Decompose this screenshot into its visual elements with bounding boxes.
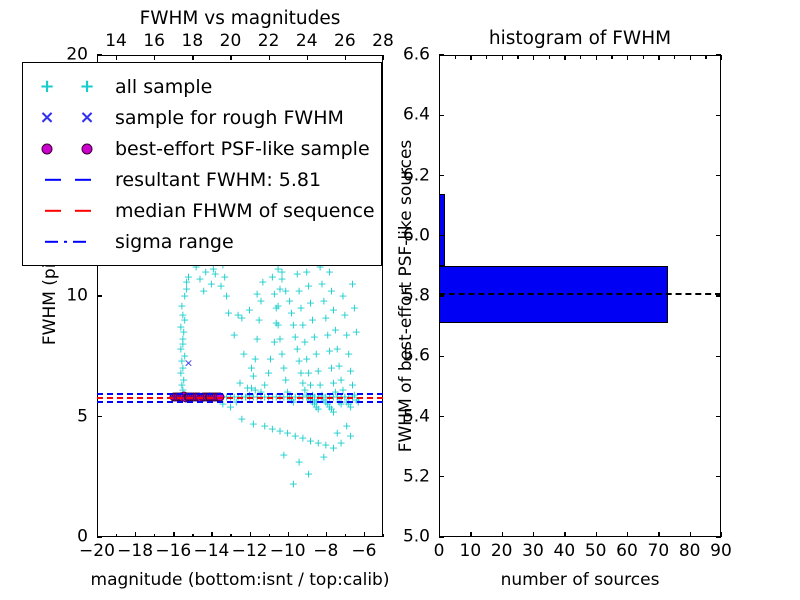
legend-item: sigma range — [23, 226, 381, 257]
scatter-point-all: + — [253, 334, 262, 345]
scatter-point-all: + — [285, 295, 294, 306]
scatter-point-all: + — [277, 274, 286, 285]
legend-item-label: sample for rough FWHM — [115, 107, 344, 129]
scatter-point-all: + — [302, 353, 311, 364]
axis-tick — [517, 55, 518, 59]
axis-tick — [721, 532, 722, 537]
axis-tick-label: 10 — [460, 543, 482, 560]
cross-icon: × — [79, 109, 94, 127]
axis-tick-label: 80 — [679, 543, 701, 560]
axis-tick — [192, 534, 193, 538]
axis-tick-label: 6.6 — [403, 47, 430, 64]
axis-tick — [596, 532, 597, 537]
axis-tick — [716, 295, 721, 296]
scatter-point-all: + — [270, 288, 279, 299]
axis-tick — [439, 115, 444, 116]
legend-item: median FHWM of sequence — [23, 195, 381, 226]
plot-legend: ++all sample××sample for rough FWHMbest-… — [22, 62, 382, 266]
legend-item-label: resultant FWHM: 5.81 — [115, 169, 321, 191]
scatter-point-all: + — [340, 310, 349, 321]
axis-tick-label: 5.4 — [403, 408, 430, 425]
scatter-point-all: + — [308, 315, 317, 326]
axis-tick — [439, 536, 444, 537]
scatter-point-all: + — [289, 478, 298, 489]
scatter-point-all: + — [298, 319, 307, 330]
scatter-point-all: + — [310, 331, 319, 342]
scatter-point-all: + — [319, 452, 328, 463]
axis-tick — [230, 534, 231, 538]
scatter-point-all: + — [222, 291, 231, 302]
legend-marker — [23, 164, 115, 195]
annotation-line-dashed — [97, 397, 383, 399]
scatter-point-all: + — [279, 363, 288, 374]
axis-tick-label: 6.2 — [403, 167, 430, 184]
scatter-point-all: + — [342, 329, 351, 340]
scatter-point-all: + — [266, 353, 275, 364]
axis-tick-label: 14 — [105, 33, 127, 50]
plus-icon: + — [79, 78, 94, 96]
scatter-point-all: + — [195, 274, 204, 285]
cross-icon: × — [39, 109, 54, 127]
scatter-point-all: + — [275, 334, 284, 345]
axis-tick — [439, 55, 440, 60]
scatter-point-all: + — [224, 307, 233, 318]
axis-tick — [439, 416, 444, 417]
axis-tick — [502, 532, 503, 537]
scatter-point-all: + — [230, 329, 239, 340]
axis-tick — [97, 295, 102, 296]
scatter-point-all: + — [338, 291, 347, 302]
axis-tick-label: 60 — [616, 543, 638, 560]
scatter-point-all: + — [180, 315, 189, 326]
right-plot-xlabel: number of sources — [501, 570, 660, 590]
scatter-point-all: + — [314, 365, 323, 376]
scatter-point-all: + — [350, 303, 359, 314]
scatter-point-all: + — [272, 303, 281, 314]
scatter-point-rough: × — [184, 358, 193, 369]
axis-tick-label: −6 — [351, 543, 376, 560]
axis-tick — [716, 356, 721, 357]
axis-tick — [470, 55, 471, 60]
scatter-point-all: + — [211, 269, 220, 280]
scatter-point-all: + — [179, 327, 188, 338]
axis-tick — [716, 115, 721, 116]
scatter-point-all: + — [344, 348, 353, 359]
axis-tick — [564, 532, 565, 537]
dash-dot-line-icon — [64, 240, 67, 242]
scatter-point-all: + — [179, 375, 188, 386]
axis-tick — [564, 55, 565, 60]
scatter-point-all: + — [258, 276, 267, 287]
dot-icon — [42, 143, 53, 154]
axis-tick-label: −18 — [117, 543, 153, 560]
legend-marker — [23, 226, 115, 257]
axis-tick — [690, 532, 691, 537]
scatter-point-all: + — [348, 278, 357, 289]
axis-tick — [658, 532, 659, 537]
scatter-point-all: + — [306, 298, 315, 309]
axis-tick — [533, 532, 534, 537]
axis-tick — [716, 476, 721, 477]
scatter-point-all: + — [294, 286, 303, 297]
dashed-line-icon — [75, 209, 91, 211]
scatter-point-all: + — [239, 348, 248, 359]
legend-item: resultant FWHM: 5.81 — [23, 164, 381, 195]
axis-tick — [611, 55, 612, 59]
scatter-point-all: + — [331, 324, 340, 335]
axis-tick — [250, 532, 251, 537]
axis-tick — [627, 55, 628, 60]
scatter-point-all: + — [304, 368, 313, 379]
scatter-point-all: + — [254, 315, 263, 326]
scatter-point-all: + — [287, 307, 296, 318]
scatter-point-all: + — [274, 319, 283, 330]
axis-tick — [383, 534, 384, 538]
legend-marker — [23, 133, 115, 164]
axis-tick-label: −12 — [232, 543, 268, 560]
annotation-line-dashdot — [97, 401, 383, 403]
scatter-point-all: + — [312, 348, 321, 359]
axis-tick — [116, 55, 117, 60]
scatter-point-all: + — [281, 375, 290, 386]
axis-tick — [97, 416, 102, 417]
axis-tick — [658, 55, 659, 60]
axis-tick-label: 20 — [491, 543, 513, 560]
histogram-bar — [439, 194, 445, 266]
scatter-point-all: + — [268, 271, 277, 282]
axis-tick-label: 6.4 — [403, 107, 430, 124]
scatter-point-all: + — [325, 266, 334, 277]
right-plot-data-area — [439, 55, 721, 537]
axis-tick-label: 70 — [648, 543, 670, 560]
axis-tick-label: 24 — [296, 33, 318, 50]
axis-tick — [154, 534, 155, 538]
scatter-point-all: + — [291, 331, 300, 342]
axis-tick-label: −14 — [193, 543, 229, 560]
axis-tick — [705, 55, 706, 59]
legend-marker — [23, 195, 115, 226]
axis-tick — [116, 534, 117, 538]
legend-marker: ++ — [23, 71, 115, 102]
axis-tick-label: 5.8 — [403, 288, 430, 305]
axis-tick-label: 40 — [554, 543, 576, 560]
axis-tick — [230, 55, 231, 60]
scatter-point-all: + — [302, 266, 311, 277]
axis-tick-label: 28 — [372, 33, 394, 50]
scatter-point-all: + — [220, 271, 229, 282]
axis-tick — [486, 55, 487, 59]
scatter-point-all: + — [352, 327, 361, 338]
scatter-point-all: + — [317, 278, 326, 289]
dash-dot-line-icon — [73, 240, 86, 242]
axis-tick — [307, 55, 308, 60]
axis-tick — [549, 55, 550, 59]
left-plot-xlabel: magnitude (bottom:isnt / top:calib) — [91, 570, 390, 590]
scatter-point-all: + — [249, 418, 258, 429]
dash-dot-line-icon — [45, 240, 58, 242]
axis-tick-label: 10 — [66, 288, 88, 305]
axis-tick — [716, 175, 721, 176]
dot-icon — [82, 143, 93, 154]
scatter-point-all: + — [256, 295, 265, 306]
axis-tick — [307, 534, 308, 538]
axis-tick — [154, 55, 155, 60]
axis-tick — [716, 536, 721, 537]
axis-tick-label: 5.2 — [403, 468, 430, 485]
annotation-line-dashdot — [97, 393, 383, 395]
legend-item: best-effort PSF-like sample — [23, 133, 381, 164]
scatter-point-all: + — [304, 469, 313, 480]
scatter-point-all: + — [336, 438, 345, 449]
axis-tick-label: −10 — [270, 543, 306, 560]
axis-tick-label: 5.0 — [403, 529, 430, 546]
axis-tick-label: 20 — [66, 47, 88, 64]
left-plot-title: FWHM vs magnitudes — [140, 8, 341, 29]
axis-tick-label: 90 — [710, 543, 732, 560]
axis-tick — [345, 55, 346, 60]
axis-tick — [345, 534, 346, 538]
axis-tick — [439, 356, 444, 357]
dashed-line-icon — [45, 178, 61, 180]
scatter-point-all: + — [264, 368, 273, 379]
scatter-point-all: + — [182, 276, 191, 287]
axis-tick-label: 5.6 — [403, 348, 430, 365]
scatter-point-all: + — [304, 281, 313, 292]
scatter-point-all: + — [333, 344, 342, 355]
scatter-point-all: + — [180, 291, 189, 302]
axis-tick-label: 0 — [77, 529, 88, 546]
scatter-point-all: + — [294, 457, 303, 468]
axis-tick — [211, 532, 212, 537]
axis-tick-label: 5 — [77, 408, 88, 425]
axis-tick-label: −16 — [155, 543, 191, 560]
axis-tick — [690, 55, 691, 60]
scatter-point-all: + — [245, 305, 254, 316]
axis-tick — [269, 534, 270, 538]
axis-tick — [383, 55, 384, 60]
scatter-point-all: + — [327, 286, 336, 297]
axis-tick — [97, 536, 102, 537]
legend-item: ++all sample — [23, 71, 381, 102]
axis-tick — [439, 235, 444, 236]
scatter-point-all: + — [346, 365, 355, 376]
scatter-point-all: + — [249, 370, 258, 381]
dashed-line-icon — [75, 178, 91, 180]
scatter-point-all: + — [335, 360, 344, 371]
axis-tick — [439, 295, 444, 296]
axis-tick-label: 30 — [522, 543, 544, 560]
axis-tick-label: 18 — [182, 33, 204, 50]
scatter-point-all: + — [296, 303, 305, 314]
scatter-point-all: + — [251, 353, 260, 364]
axis-tick — [596, 55, 597, 60]
axis-tick-label: 16 — [143, 33, 165, 50]
scatter-point-all: + — [300, 336, 309, 347]
scatter-point-all: + — [346, 430, 355, 441]
axis-tick — [470, 532, 471, 537]
axis-tick-label: 22 — [258, 33, 280, 50]
axis-tick — [627, 532, 628, 537]
axis-tick — [288, 532, 289, 537]
right-plot-title: histogram of FWHM — [489, 28, 671, 49]
figure-canvas: FWHM vs magnitudes magnitude (bottom:isn… — [0, 0, 800, 600]
scatter-point-all: + — [279, 450, 288, 461]
annotation-line-resultant-fwhm — [439, 293, 721, 295]
legend-marker: ×× — [23, 102, 115, 133]
axis-tick — [674, 55, 675, 59]
legend-item-label: sigma range — [115, 231, 234, 253]
axis-tick-label: −8 — [313, 543, 338, 560]
legend-item: ××sample for rough FWHM — [23, 102, 381, 133]
axis-tick — [326, 532, 327, 537]
scatter-point-all: + — [237, 413, 246, 424]
axis-tick — [364, 532, 365, 537]
axis-tick — [643, 55, 644, 59]
axis-tick — [455, 55, 456, 59]
legend-item-label: best-effort PSF-like sample — [115, 138, 370, 160]
axis-tick-label: 50 — [585, 543, 607, 560]
axis-tick — [721, 55, 722, 60]
scatter-point-all: + — [260, 380, 269, 391]
axis-tick-label: 6.0 — [403, 227, 430, 244]
axis-tick — [716, 235, 721, 236]
axis-tick-label: 26 — [334, 33, 356, 50]
axis-tick — [439, 175, 444, 176]
axis-tick-label: 0 — [434, 543, 445, 560]
scatter-point-all: + — [293, 269, 302, 280]
legend-item-label: median FHWM of sequence — [115, 200, 375, 222]
legend-item-label: all sample — [115, 76, 212, 98]
axis-tick — [173, 532, 174, 537]
axis-tick — [716, 416, 721, 417]
dashed-line-icon — [45, 209, 61, 211]
axis-tick — [502, 55, 503, 60]
axis-tick-label: 20 — [220, 33, 242, 50]
scatter-point-all: + — [277, 348, 286, 359]
axis-tick — [533, 55, 534, 60]
axis-tick — [269, 55, 270, 60]
axis-tick — [192, 55, 193, 60]
scatter-point-all: + — [329, 305, 338, 316]
scatter-point-all: + — [178, 339, 187, 350]
axis-tick — [135, 532, 136, 537]
axis-tick — [97, 54, 102, 55]
scatter-point-all: + — [289, 319, 298, 330]
axis-tick — [580, 55, 581, 59]
axis-tick — [439, 476, 444, 477]
plus-icon: + — [39, 78, 54, 96]
